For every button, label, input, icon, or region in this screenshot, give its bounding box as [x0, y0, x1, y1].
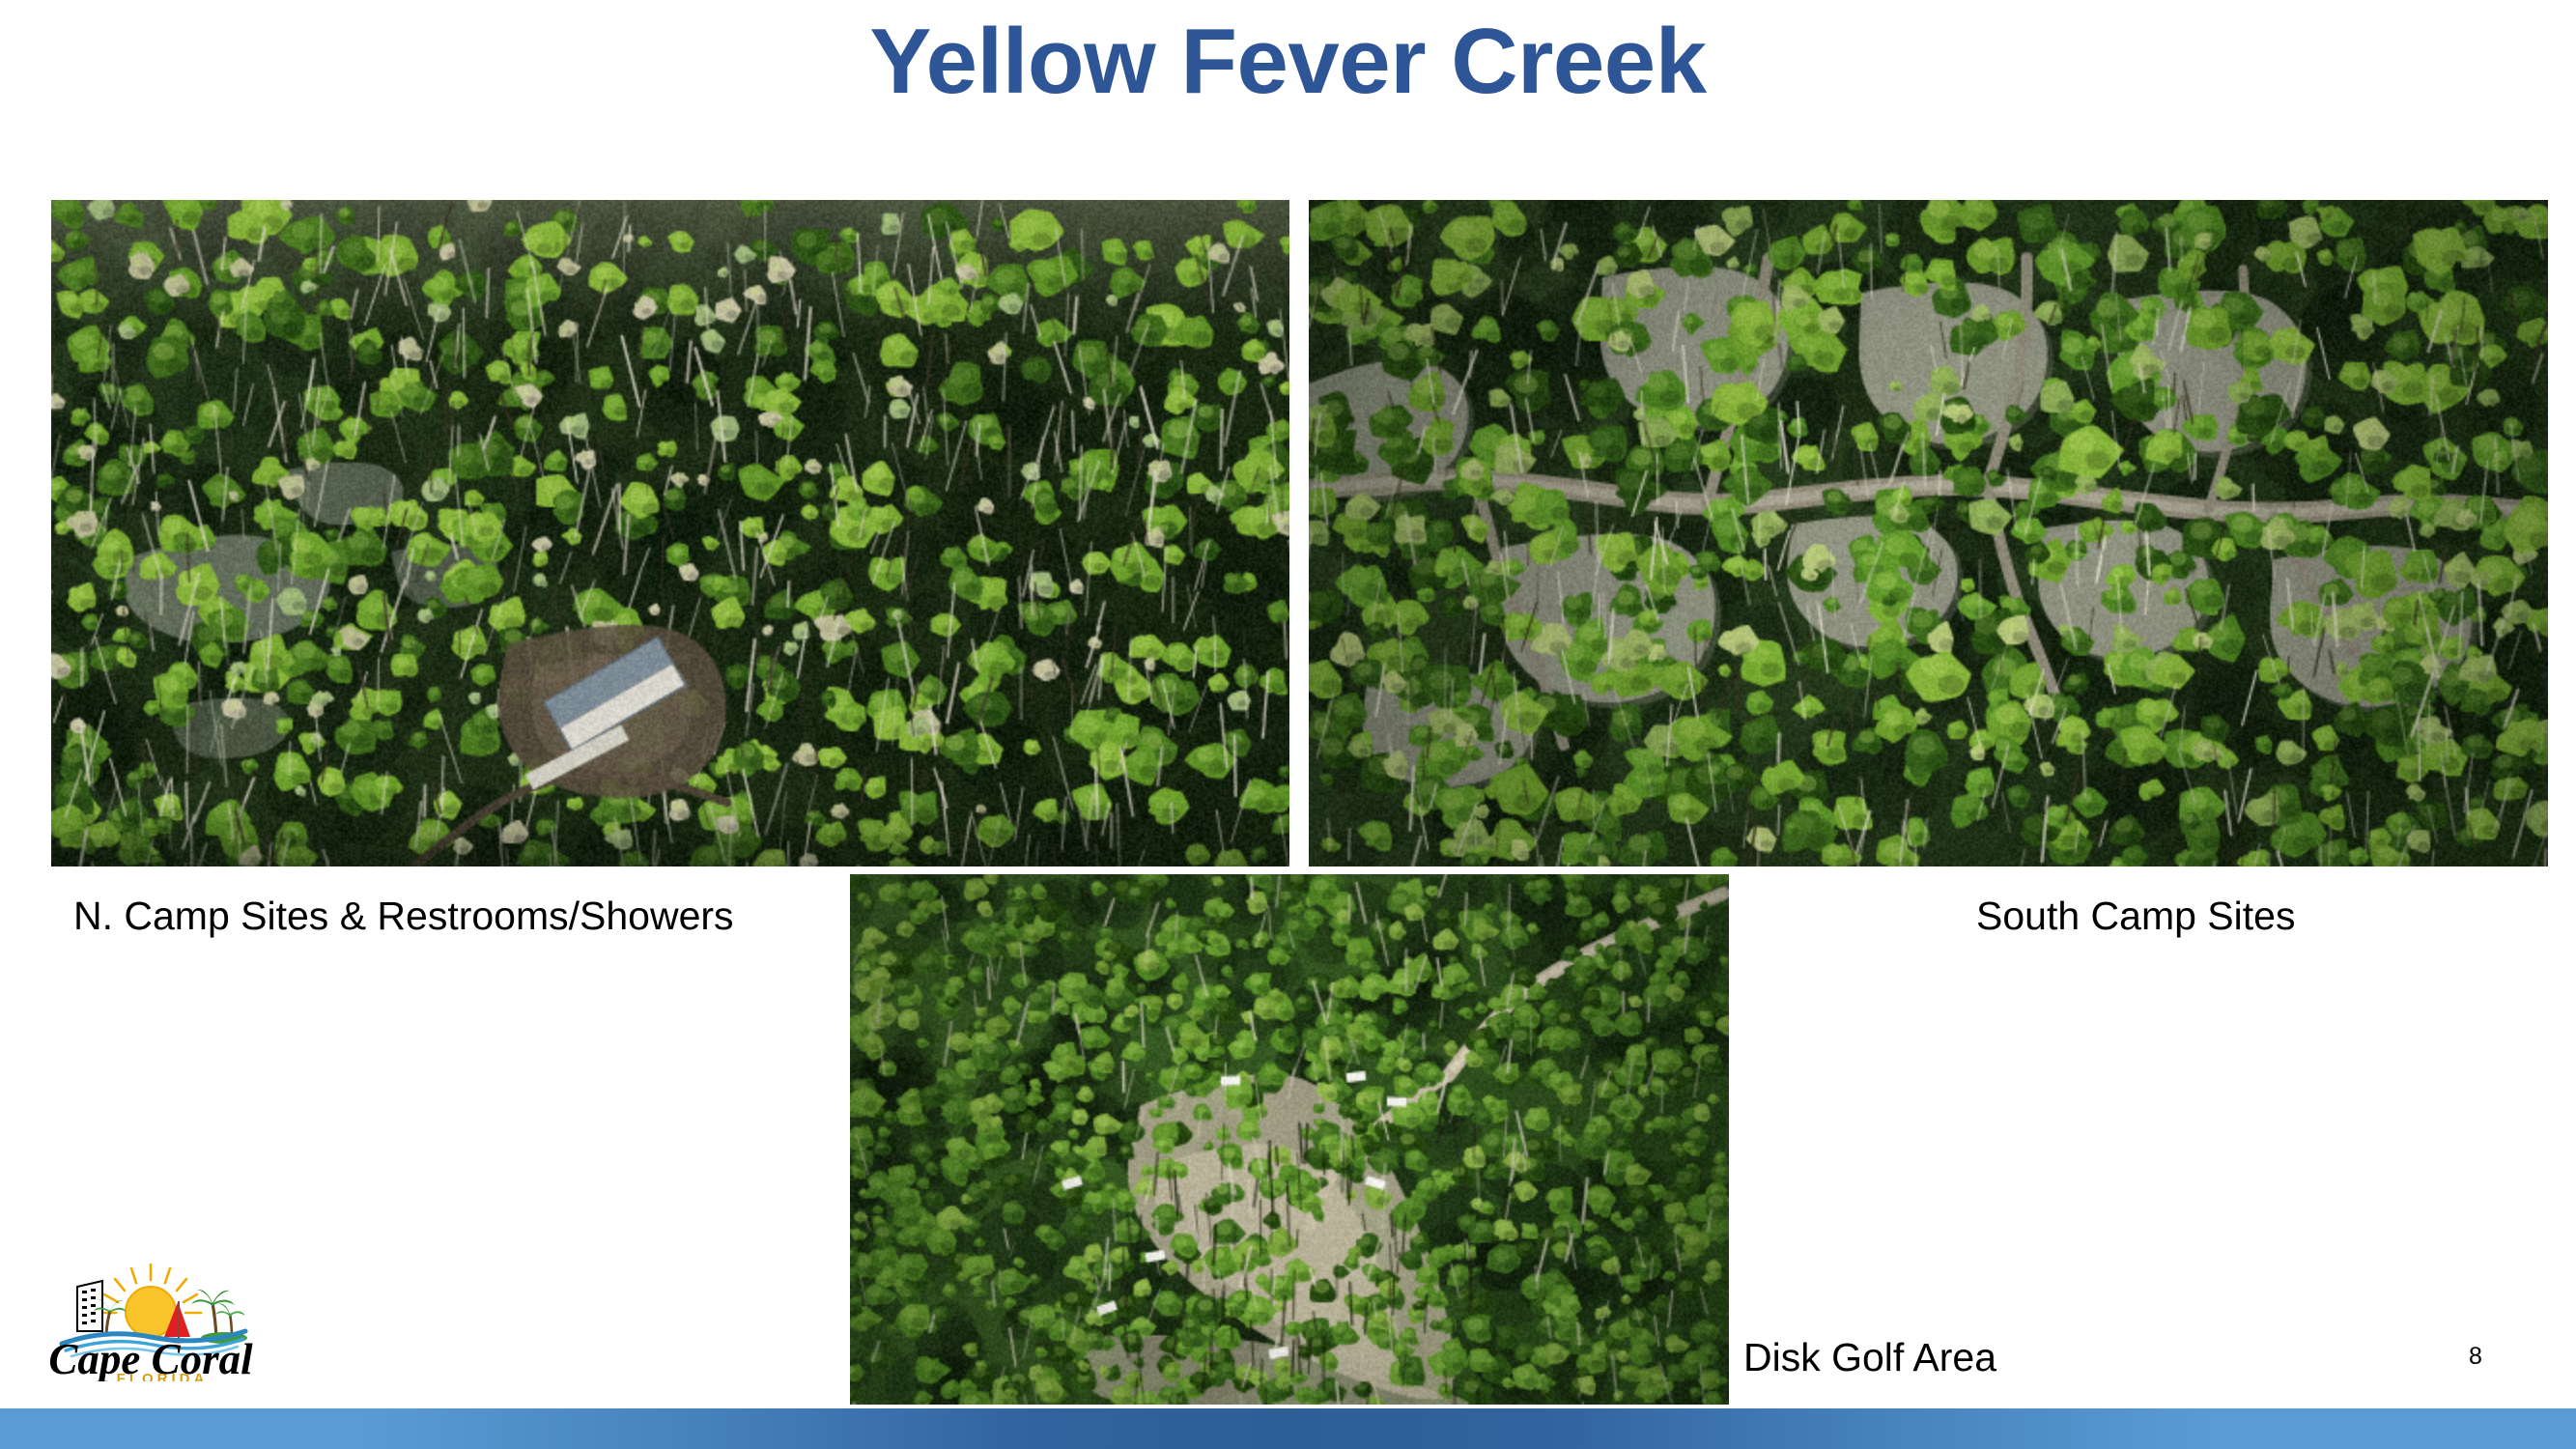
disk-golf-aerial-photo	[850, 874, 1729, 1405]
page-title: Yellow Fever Creek	[0, 14, 2576, 111]
caption-disk-golf-area: Disk Golf Area	[1743, 1335, 1996, 1380]
cape-coral-florida-logo: Cape Coral FLORIDA	[46, 1261, 255, 1381]
caption-north-camp-sites: N. Camp Sites & Restrooms/Showers	[73, 894, 734, 939]
footer-accent-bar	[0, 1408, 2576, 1449]
page-number: 8	[2469, 1343, 2482, 1371]
caption-south-camp-sites: South Camp Sites	[1976, 894, 2295, 939]
building-icon	[77, 1281, 102, 1331]
south-camp-aerial-canvas	[1309, 200, 2548, 867]
north-camp-aerial-photo	[51, 200, 1289, 867]
north-camp-aerial-canvas	[51, 200, 1289, 867]
logo-text-florida: FLORIDA	[117, 1371, 209, 1381]
south-camp-aerial-photo	[1309, 200, 2548, 867]
disk-golf-aerial-canvas	[850, 874, 1729, 1405]
